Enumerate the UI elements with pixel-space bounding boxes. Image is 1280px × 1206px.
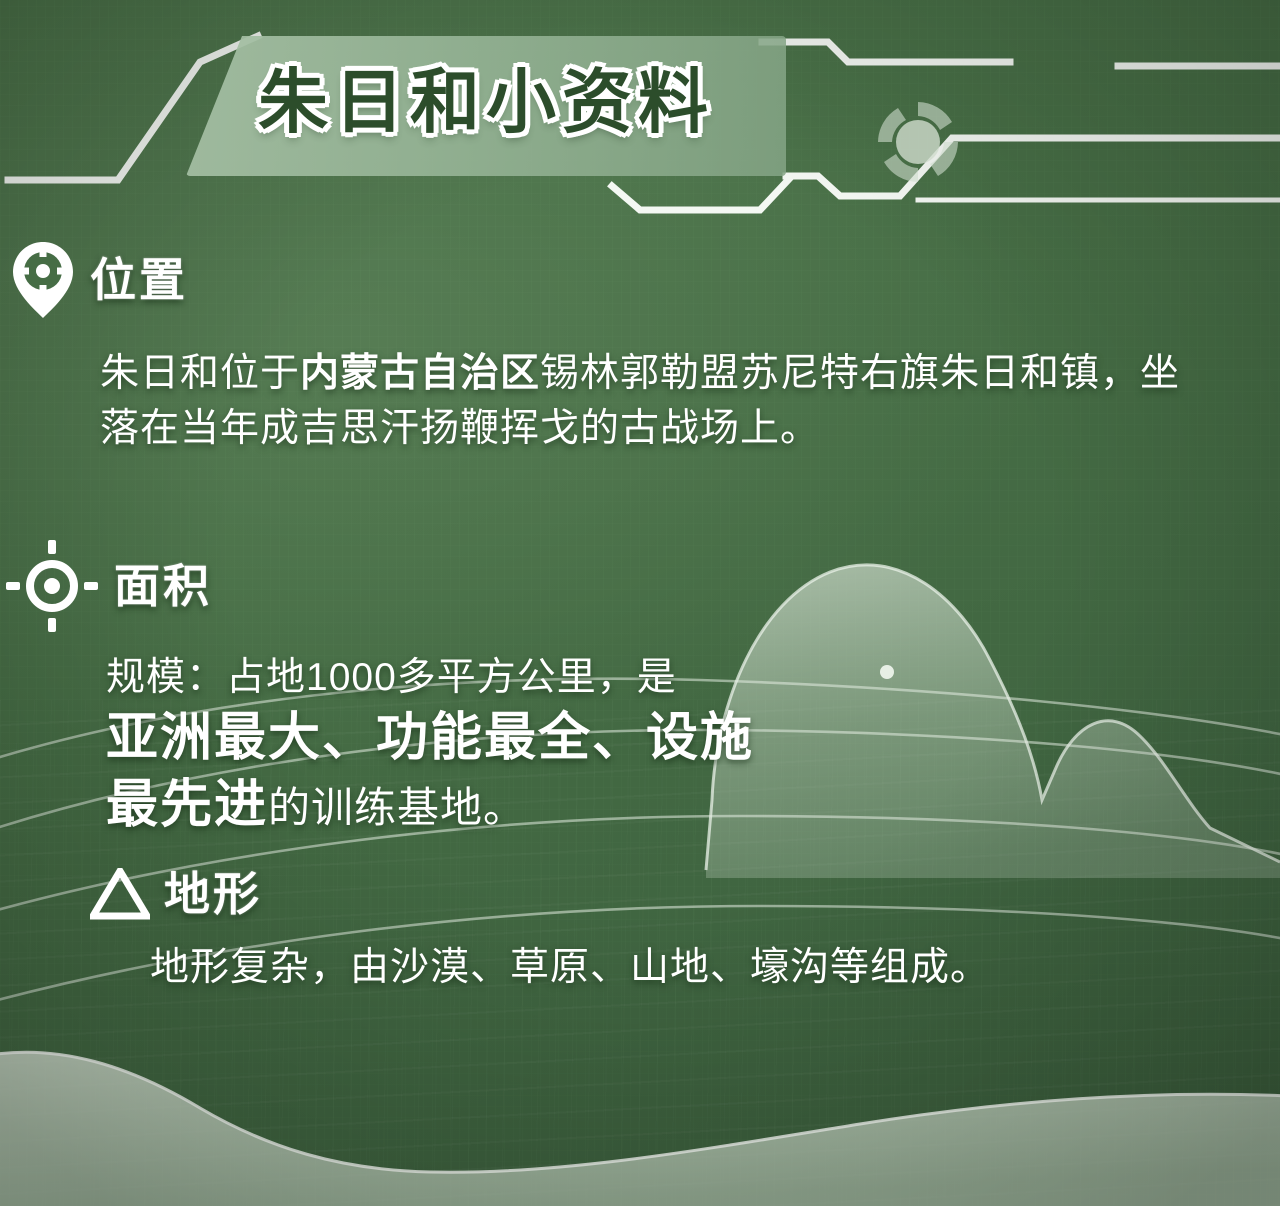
section-terrain-header: 地形 — [90, 868, 1190, 920]
section-terrain-body: 地形复杂，由沙漠、草原、山地、壕沟等组成。 — [150, 940, 1150, 995]
location-emphasis-text: 内蒙古自治区 — [300, 352, 540, 395]
section-area-body: 规模：占地1000多平方公里，是 亚洲最大、功能最全、设施最先进的训练基地。 — [106, 650, 786, 838]
section-area: 面积 规模：占地1000多平方公里，是 亚洲最大、功能最全、设施最先进的训练基地… — [4, 538, 1204, 838]
location-lead-text: 朱日和位于 — [100, 352, 300, 395]
section-location: 位置 朱日和位于内蒙古自治区锡林郭勒盟苏尼特右旗朱日和镇，坐落在当年成吉思汗扬鞭… — [10, 240, 1210, 457]
area-scale-text: 规模：占地1000多平方公里，是 — [106, 656, 677, 699]
section-area-title: 面积 — [114, 563, 212, 609]
section-location-title: 位置 — [90, 257, 188, 303]
section-area-header: 面积 — [4, 538, 1204, 634]
infographic-card: 朱日和小资料 位置 朱日和位于内蒙古自治区锡林郭勒盟苏尼特右旗朱日和镇，坐落在当… — [0, 0, 1280, 1206]
mountain-triangle-icon — [90, 868, 150, 920]
section-location-body: 朱日和位于内蒙古自治区锡林郭勒盟苏尼特右旗朱日和镇，坐落在当年成吉思汗扬鞭挥戈的… — [100, 346, 1200, 457]
title-banner: 朱日和小资料 — [186, 36, 786, 176]
aperture-target-icon — [4, 538, 100, 634]
bottom-wave — [0, 1052, 1280, 1206]
reticle-target-icon — [862, 86, 974, 198]
section-terrain-title: 地形 — [164, 871, 262, 917]
section-terrain: 地形 地形复杂，由沙漠、草原、山地、壕沟等组成。 — [90, 868, 1190, 995]
area-claim-line: 亚洲最大、功能最全、设施最先进的训练基地。 — [106, 705, 786, 838]
section-location-header: 位置 — [10, 240, 1210, 320]
map-pin-icon — [10, 240, 76, 320]
area-claim-tail-text: 的训练基地。 — [268, 784, 526, 831]
page-title: 朱日和小资料 — [186, 52, 786, 154]
